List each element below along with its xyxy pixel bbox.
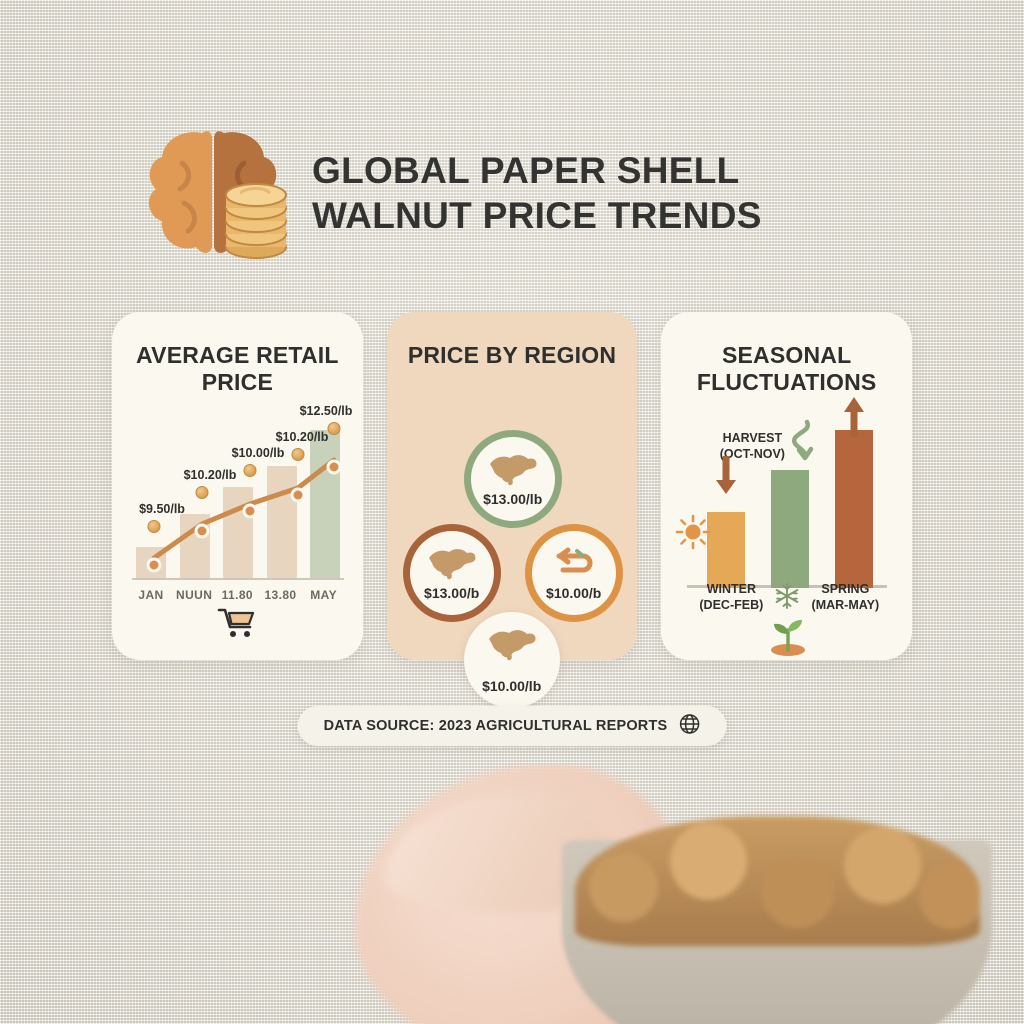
season-caption-spring: SPRING (MAR-MAY)	[797, 582, 893, 613]
footer-data-source[interactable]: DATA SOURCE: 2023 AGRICULTURAL REPORTS	[298, 706, 727, 746]
page-title: GLOBAL PAPER SHELL WALNUT PRICE TRENDS	[312, 148, 872, 238]
arrow-up-icon	[841, 394, 867, 438]
infographic-canvas: GLOBAL PAPER SHELL WALNUT PRICE TRENDS A…	[0, 0, 1024, 1024]
coin-icon-4	[292, 448, 305, 461]
region-price-bottom: $10.00/lb	[482, 678, 541, 694]
x-label-mar: 11.80	[216, 588, 258, 602]
card-title-seasonal: SEASONAL FLUCTUATIONS	[661, 342, 912, 396]
region-price-right: $10.00/b	[546, 585, 601, 601]
shopping-cart-icon	[112, 607, 363, 644]
coin-icon-5	[328, 422, 341, 435]
snowflake-icon	[773, 582, 801, 615]
season-sublabel-spring: (MAR-MAY)	[797, 598, 893, 614]
retail-point-2[interactable]	[195, 524, 210, 539]
season-sublabel-winter: (DEC-FEB)	[687, 598, 775, 614]
arrow-down-icon	[713, 456, 739, 498]
sprout-icon	[765, 614, 811, 661]
sun-icon	[675, 514, 711, 555]
season-bar-winter	[707, 512, 745, 588]
world-map-icon	[486, 451, 540, 492]
retail-label-4: $10.20/lb	[276, 430, 329, 444]
trade-swap-icon	[551, 545, 597, 584]
retail-point-5[interactable]	[327, 460, 342, 475]
season-label-winter: WINTER	[687, 582, 775, 598]
cards-row: AVERAGE RETAIL PRICE	[112, 312, 912, 660]
retail-point-4[interactable]	[291, 488, 306, 503]
retail-label-1: $9.50/lb	[139, 502, 185, 516]
x-label-jan: JAN	[130, 588, 172, 602]
region-badge-top[interactable]: $13.00/lb	[464, 430, 562, 528]
card-average-retail-price[interactable]: AVERAGE RETAIL PRICE	[112, 312, 363, 660]
season-label-spring: SPRING	[797, 582, 893, 598]
x-label-feb: NUUN	[173, 588, 215, 602]
walnut-coins-icon	[140, 123, 290, 263]
retail-price-chart: $9.50/lb $10.20/lb $10.00/lb $10.20/lb $…	[130, 408, 346, 580]
region-price-left: $13.00/b	[424, 585, 479, 601]
season-bar-spring	[835, 430, 873, 588]
region-badge-right[interactable]: $10.00/b	[525, 524, 623, 622]
region-badge-left[interactable]: $13.00/b	[403, 524, 501, 622]
x-label-apr: 13.80	[259, 588, 301, 602]
card-title-retail: AVERAGE RETAIL PRICE	[112, 342, 363, 396]
retail-point-1[interactable]	[147, 558, 162, 573]
x-label-may: MAY	[303, 588, 345, 602]
globe-icon	[678, 713, 700, 739]
season-bar-harvest	[771, 470, 809, 589]
header: GLOBAL PAPER SHELL WALNUT PRICE TRENDS	[140, 118, 900, 268]
retail-label-2: $10.20/lb	[184, 468, 237, 482]
card-seasonal-fluctuations[interactable]: SEASONAL FLUCTUATIONS HARVEST (OCT-NOV)	[661, 312, 912, 660]
retail-x-axis-labels: JAN NUUN 11.80 13.80 MAY	[130, 588, 345, 602]
walnut-kernels	[575, 816, 980, 946]
squiggle-arrow-icon	[769, 418, 819, 470]
retail-label-3: $10.00/lb	[232, 446, 285, 460]
coin-icon-1	[148, 520, 161, 533]
walnut-bowl-photo	[0, 764, 1024, 1024]
world-map-icon	[425, 545, 479, 586]
retail-point-3[interactable]	[243, 504, 258, 519]
world-map-icon	[485, 626, 539, 667]
coin-icon-2	[196, 486, 209, 499]
region-badge-bottom[interactable]: $10.00/lb	[464, 612, 560, 708]
card-price-by-region[interactable]: PRICE BY REGION $13.00/lb	[387, 312, 638, 660]
retail-label-5: $12.50/lb	[300, 404, 353, 418]
seasonal-bars-chart	[687, 430, 887, 588]
card-title-region: PRICE BY REGION	[387, 342, 638, 369]
region-price-top: $13.00/lb	[483, 491, 542, 507]
coin-icon-3	[244, 464, 257, 477]
footer-text: DATA SOURCE: 2023 AGRICULTURAL REPORTS	[324, 718, 668, 734]
season-caption-winter: WINTER (DEC-FEB)	[687, 582, 775, 613]
